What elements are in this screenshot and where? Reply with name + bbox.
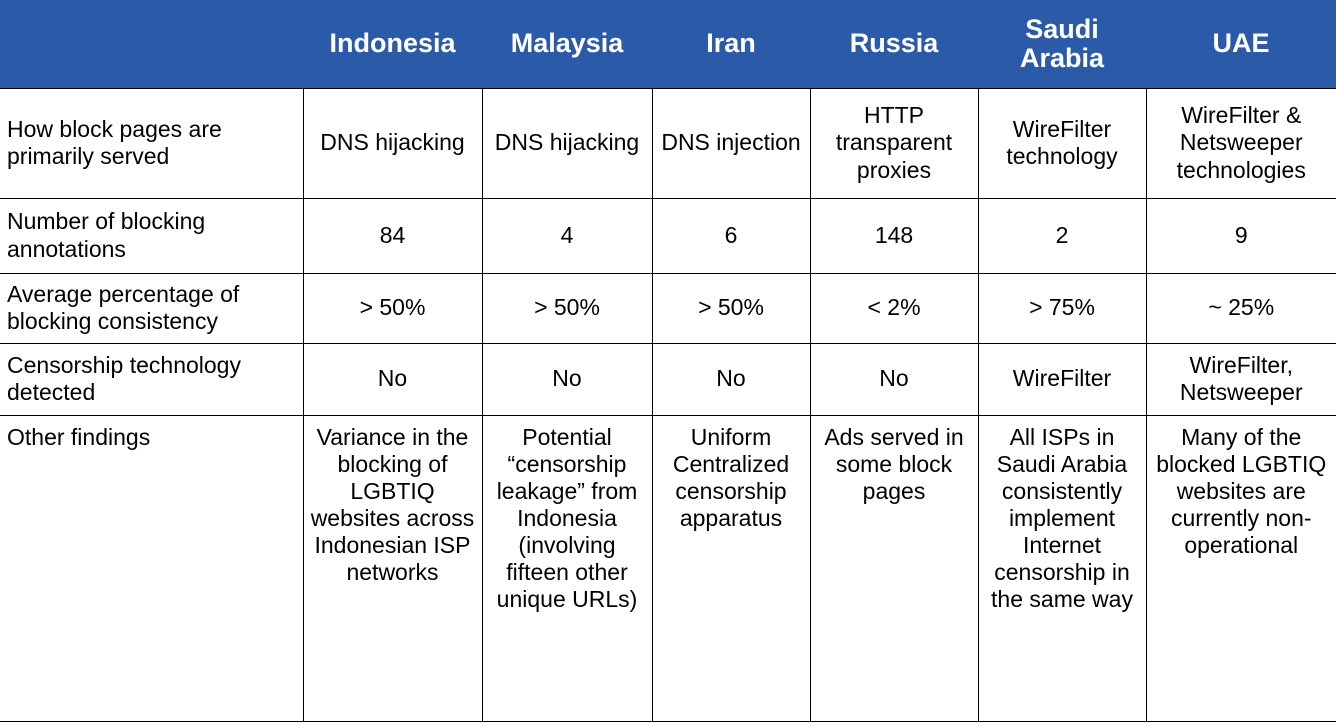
- cell-iran: DNS injection: [652, 88, 810, 198]
- column-header-russia: Russia: [810, 0, 978, 88]
- table-body: How block pages are primarily served DNS…: [0, 88, 1336, 721]
- cell-uae: ~ 25%: [1146, 273, 1336, 343]
- cell-russia: < 2%: [810, 273, 978, 343]
- cell-indonesia: > 50%: [303, 273, 482, 343]
- cell-iran: No: [652, 343, 810, 415]
- table-row: How block pages are primarily served DNS…: [0, 88, 1336, 198]
- cell-iran: > 50%: [652, 273, 810, 343]
- cell-russia: 148: [810, 198, 978, 273]
- table-row: Other findings Variance in the blocking …: [0, 415, 1336, 721]
- cell-indonesia: No: [303, 343, 482, 415]
- cell-indonesia: 84: [303, 198, 482, 273]
- cell-saudi-arabia: WireFilter technology: [978, 88, 1146, 198]
- row-label: Other findings: [0, 415, 303, 721]
- comparison-table-container: Indonesia Malaysia Iran Russia Saudi Ara…: [0, 0, 1336, 726]
- censorship-comparison-table: Indonesia Malaysia Iran Russia Saudi Ara…: [0, 0, 1336, 722]
- cell-saudi-arabia: WireFilter: [978, 343, 1146, 415]
- cell-saudi-arabia: 2: [978, 198, 1146, 273]
- cell-indonesia: DNS hijacking: [303, 88, 482, 198]
- cell-saudi-arabia: > 75%: [978, 273, 1146, 343]
- row-label: Censorship technology detected: [0, 343, 303, 415]
- cell-indonesia: Variance in the blocking of LGBTIQ websi…: [303, 415, 482, 721]
- table-row: Number of blocking annotations 84 4 6 14…: [0, 198, 1336, 273]
- cell-saudi-arabia: All ISPs in Saudi Arabia consistently im…: [978, 415, 1146, 721]
- row-label: How block pages are primarily served: [0, 88, 303, 198]
- column-header-uae: UAE: [1146, 0, 1336, 88]
- table-row: Censorship technology detected No No No …: [0, 343, 1336, 415]
- cell-russia: No: [810, 343, 978, 415]
- cell-malaysia: DNS hijacking: [482, 88, 652, 198]
- table-header: Indonesia Malaysia Iran Russia Saudi Ara…: [0, 0, 1336, 88]
- table-header-row: Indonesia Malaysia Iran Russia Saudi Ara…: [0, 0, 1336, 88]
- cell-uae: 9: [1146, 198, 1336, 273]
- table-row: Average percentage of blocking consisten…: [0, 273, 1336, 343]
- row-label: Average percentage of blocking consisten…: [0, 273, 303, 343]
- cell-russia: HTTP transparent proxies: [810, 88, 978, 198]
- column-header-malaysia: Malaysia: [482, 0, 652, 88]
- cell-malaysia: Potential “censorship leakage” from Indo…: [482, 415, 652, 721]
- cell-iran: Uniform Centralized censorship apparatus: [652, 415, 810, 721]
- column-header-metric: [0, 0, 303, 88]
- cell-iran: 6: [652, 198, 810, 273]
- cell-malaysia: 4: [482, 198, 652, 273]
- cell-uae: WireFilter, Netsweeper: [1146, 343, 1336, 415]
- cell-uae: WireFilter & Netsweeper technologies: [1146, 88, 1336, 198]
- cell-uae: Many of the blocked LGBTIQ websites are …: [1146, 415, 1336, 721]
- column-header-indonesia: Indonesia: [303, 0, 482, 88]
- column-header-iran: Iran: [652, 0, 810, 88]
- column-header-saudi-arabia: Saudi Arabia: [978, 0, 1146, 88]
- row-label: Number of blocking annotations: [0, 198, 303, 273]
- cell-malaysia: No: [482, 343, 652, 415]
- cell-malaysia: > 50%: [482, 273, 652, 343]
- cell-russia: Ads served in some block pages: [810, 415, 978, 721]
